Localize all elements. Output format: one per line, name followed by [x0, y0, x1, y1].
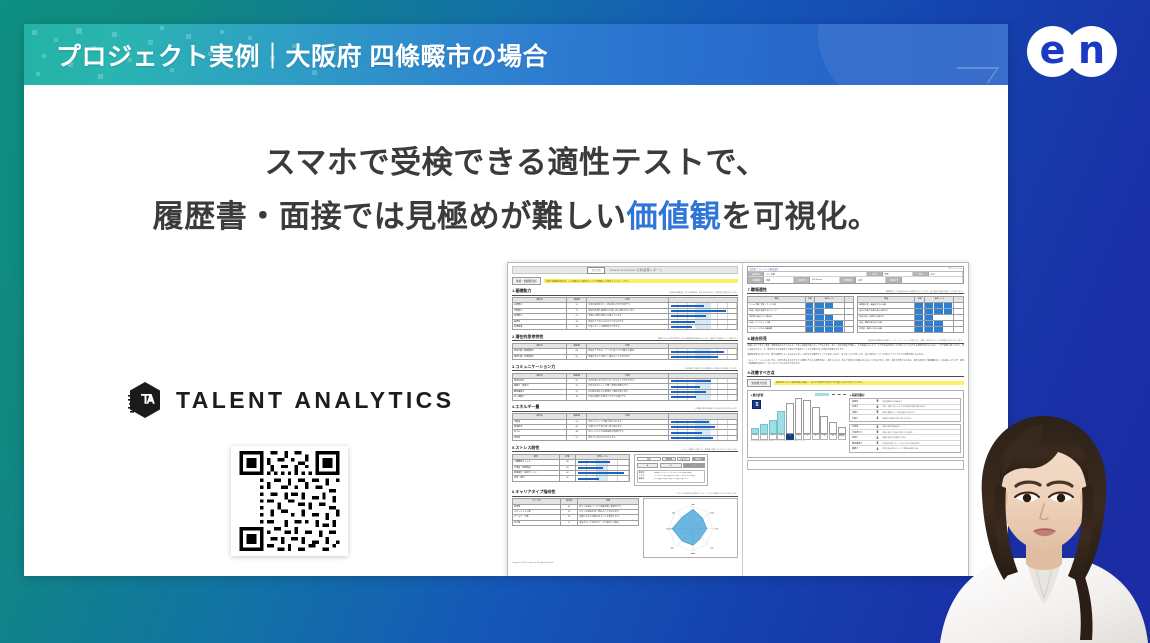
report-section-7: 7.職場適性 職場環境ごとの適性の高さを4段階で示しています。濃い青ほど適性が高… [747, 287, 964, 333]
row-desc: 裁量をもって自分のペースで進めたい傾向。 [578, 520, 638, 525]
section-4-title: 4.エネルギー量 [512, 404, 539, 410]
section-1-table: 項目名 偏差値 特徴 言語能力 52 文章の意味を正しく読み取る力が平均的です。 [512, 297, 738, 330]
row-level [924, 308, 954, 314]
judgement-grade-c: C [683, 463, 705, 468]
system-name: 判断力 [850, 411, 872, 414]
row-name: 評価・批判 [513, 476, 560, 481]
report-section-4: 4.エネルギー量 行動量や意欲の源泉となる活力の水準を示します。 項目名 偏差値… [512, 404, 738, 441]
en-logo-n-glyph: n [1078, 31, 1105, 69]
row-score: 45 [559, 476, 575, 481]
axis-tick-label: 偏差値 [838, 434, 846, 439]
form-label-date: 受検日時 [794, 277, 810, 282]
comment-paragraph: 基礎的思考力においては、数字の概念によくみられるように、自分なりの着想やアイデア… [747, 354, 964, 357]
report-section-3: 3.コミュニケーション力 対人場面での関わり方の特徴を4つの観点から評価していま… [512, 364, 738, 401]
report-section-5: 5.ストレス耐性 ストレス要因への強さと、不調時に現れやすいサインを示します。 … [512, 445, 738, 486]
radar-chart-svg: ■■■ ■■■■ ■■■ ■■■ ■■■■ ■■■ ■■■■■ ■■■ [644, 499, 738, 557]
overall-score-head: ● 総合評価 [750, 393, 846, 397]
row-gauge [576, 476, 630, 481]
form-label-type: 受検区分 [886, 277, 902, 282]
judgement-box: 判定 推奨度 フォロー 要確認 A B C [634, 454, 708, 486]
judgement-row-1: 判定 推奨度 フォロー 要確認 [637, 457, 705, 462]
section-9-head: 9.改善すべき点 [747, 370, 964, 378]
system-score: 4 [872, 447, 882, 451]
row-desc: 飽きずに続ける力があります。 [587, 435, 668, 440]
section-2-title: 2.潜在的思考特性 [512, 334, 543, 340]
aptitude-table-left: 職種 評価 適性レベル ― チームで動く営業・サービス業 [747, 296, 854, 333]
row-eval [805, 326, 815, 332]
system-name: 傾聴力 [850, 447, 872, 450]
form-label-name: 受検者名 [748, 272, 764, 276]
judgement-desc-text: 対人調整が必要な役割では支援が望ましい [654, 478, 703, 481]
system-score: 5 [872, 441, 882, 445]
axis-tick: 9 [820, 434, 828, 439]
section-9-tab-row: 知的能力分析 偏差値をもとに5段階評価に換算し、あなたの結果が分布のどの位置にあ… [747, 379, 964, 387]
table-row: 評価・批判 45 [513, 476, 630, 481]
section-5-note: ストレス要因への強さと、不調時に現れやすいサインを示します。 [682, 448, 738, 451]
row-gauge [668, 395, 738, 400]
section-4-table: 項目名 偏差値 特徴 活動量 54 安定したペースで動き続けられます。 [512, 413, 738, 441]
judgement-desc-key: 要確認 [639, 478, 653, 481]
row-job: ルーティング中心の事務職 [748, 326, 805, 332]
system-score: 5 [872, 425, 882, 429]
qr-code[interactable] [231, 446, 348, 556]
row-end [954, 326, 964, 332]
report-bottom-box [747, 460, 964, 470]
svg-text:■■■■■: ■■■■■ [666, 529, 671, 531]
talent-analytics-hexagon-icon [128, 381, 162, 419]
row-level [924, 320, 954, 326]
section-7-title: 7.職場適性 [747, 287, 766, 293]
judgement-row-2: A B C [637, 463, 705, 468]
section-7-head: 7.職場適性 職場環境ごとの適性の高さを4段階で示しています。濃い青ほど適性が高… [747, 287, 964, 295]
report-section-6: 6.キャリアタイプ指向性 どのような働き方や環境でパフォーマンスを発揮しやすいか… [512, 489, 738, 558]
row-level [815, 308, 845, 314]
section-6-title: 6.キャリアタイプ指向性 [512, 489, 555, 495]
judgement-check: 要確認 [692, 457, 705, 462]
report-tab-row: 性格・価値観分析 性格や価値観の傾向を、6つの観点と24項目のスコアで客観的に可… [512, 277, 738, 285]
table-row: 定型的・繰返しの多い仕事 [858, 326, 964, 332]
histogram-legend [815, 393, 846, 395]
row-job: 定型的・繰返しの多い仕事 [858, 326, 915, 332]
axis-tick-selected: 5 [786, 434, 794, 439]
report-tab-highlight: 性格や価値観の傾向を、6つの観点と24項目のスコアで客観的に可視化したレポートで… [544, 279, 739, 283]
form-label-duration: 所要時間 [840, 277, 856, 282]
judgement-grade-b: B [660, 463, 682, 468]
svg-text:■■■: ■■■ [710, 548, 713, 550]
row-name: 対人調整力 [513, 395, 567, 400]
row-level [924, 326, 954, 332]
section-5-table: 項目 評価 耐性レベル 人間関係ストレス 58 [512, 454, 630, 482]
row-score: 57 [567, 435, 587, 440]
form-value-duration: 35分 [856, 277, 886, 282]
section-8-title: 8.総合所見 [747, 336, 766, 342]
judgement-label: 判定 [637, 457, 661, 462]
form-value-position: 営業 [764, 277, 794, 282]
section-6-table: タイプ名 指向度 特徴 変革型 67 新しい仕組みづくりや改善提案に意欲的です。… [512, 498, 639, 526]
headline-line2-before: 履歴書・面接では見極めが難しい [153, 199, 627, 234]
aptitude-grids: 職種 評価 適性レベル ― チームで動く営業・サービス業 [747, 296, 964, 333]
score-tab-highlight: 偏差値をもとに5段階評価に換算し、あなたの結果が分布のどの位置にあるかを示してい… [774, 381, 964, 385]
section-1-head: 1.基礎能力 各項目の偏差値により5段階評価。全体平均を50として相対的な位置を… [512, 288, 738, 296]
slide-headline: スマホで受検できる適性テストで、 履歴書・面接では見極めが難しい価値観を可視化。 [24, 136, 1008, 244]
system-score: 5 [872, 410, 882, 414]
overall-score-panel: ● 総合評価 5 [750, 393, 846, 455]
section-3-head: 3.コミュニケーション力 対人場面での関わり方の特徴を4つの観点から評価していま… [512, 364, 738, 372]
section-5-head: 5.ストレス耐性 ストレス要因への強さと、不調時に現れやすいサインを示します。 [512, 445, 738, 453]
svg-text:■■■: ■■■ [715, 529, 718, 531]
section-3-table: 項目名 偏差値 特徴 意思伝達力 56 自分の考えをわかりやすく伝えることができ… [512, 373, 738, 401]
system-score: 5 [872, 399, 882, 403]
section-1-title: 1.基礎能力 [512, 288, 531, 294]
svg-text:■■■■: ■■■■ [710, 513, 714, 515]
svg-text:■■■■: ■■■■ [691, 553, 695, 555]
legend-average-line [832, 394, 846, 395]
row-desc: 無駄を省いて効率よく進めることを好みます。 [587, 354, 668, 359]
section-6-head: 6.キャリアタイプ指向性 どのような働き方や環境でパフォーマンスを発揮しやすいか… [512, 489, 738, 497]
system-name: 計算力 [850, 417, 872, 420]
row-name: 選択行動（効率重視） [513, 354, 567, 359]
talent-analytics-logo: TALENT ANALYTICS [128, 381, 454, 419]
section-5-body: 項目 評価 耐性レベル 人間関係ストレス 58 [512, 454, 738, 486]
talent-analytics-wordmark: TALENT ANALYTICS [176, 387, 454, 414]
system-score: 5 [872, 436, 882, 440]
form-label-age: 年齢 [913, 272, 929, 276]
headline-line-2: 履歴書・面接では見極めが難しい価値観を可視化。 [24, 190, 1008, 244]
judgement-desc-row: 要確認 対人調整が必要な役割では支援が望ましい [639, 478, 703, 481]
table-row: 持続性 57 飽きずに続ける力があります。 [513, 435, 738, 440]
section-5-title: 5.ストレス耐性 [512, 445, 539, 451]
system-scores-label: ● 系統別集計 [849, 393, 864, 397]
axis-tick: 4 [777, 434, 785, 439]
judgement-recommend: 推奨度 [662, 457, 675, 462]
system-name: 応用力 [850, 405, 872, 408]
judgement-descriptions: 推奨度 配属先のマネジメントスタイルとの相性を確認 フォロー 立ち上がり期の目標… [637, 470, 705, 483]
overall-score-badge: 5 [752, 400, 761, 409]
form-value-name: エン 太郎 [764, 272, 867, 276]
form-value-date: 2017/xx/xx [810, 277, 840, 282]
histogram-axis: 1 2 3 4 5 6 7 8 9 10 偏差値 [750, 434, 846, 439]
row-level [815, 302, 845, 308]
system-name: 基礎系 [850, 400, 872, 403]
report-section-8: 8.総合所見 各項目の評価結果を踏まえ、コミュニケーションの取り方や、配属・育成… [747, 336, 964, 366]
talent-analytics-report-thumbnail[interactable]: サンプル Talent Analytics 分析結果レポート 性格・価値観分析 … [507, 262, 969, 576]
row-eval [915, 308, 925, 314]
svg-text:■■■: ■■■ [670, 548, 673, 550]
row-score: 45 [567, 325, 587, 330]
section-8-head: 8.総合所見 各項目の評価結果を踏まえ、コミュニケーションの取り方や、配属・育成… [747, 336, 964, 344]
system-scores-head: ● 系統別集計 [849, 393, 961, 397]
table-row: 処理速度 45 作業スピードは標準的な水準です。 [513, 325, 738, 330]
report-tab-personality[interactable]: 性格・価値観分析 [512, 277, 541, 285]
en-logo-e-glyph: e [1040, 31, 1066, 69]
axis-tick: 6 [795, 434, 803, 439]
row-level [924, 314, 954, 320]
system-name: 応用系 [850, 425, 872, 428]
score-tab-label[interactable]: 知的能力分析 [747, 379, 771, 387]
form-label-gender: 性別 [867, 272, 883, 276]
row-desc: 利害の調整や折衝はやや苦手な傾向です。 [587, 395, 668, 400]
section-2-note: 物事をとらえる際の思考のクセや価値判断の傾向を示します。面接では見極めにくい領域… [658, 337, 739, 340]
row-eval [915, 302, 925, 308]
row-level [924, 302, 954, 308]
table-row: 選択行動（効率重視） 64 無駄を省いて効率よく進めることを好みます。 [513, 354, 738, 359]
section-4-head: 4.エネルギー量 行動量や意欲の源泉となる活力の水準を示します。 [512, 404, 738, 412]
axis-tick: 1 [751, 434, 759, 439]
row-eval [915, 314, 925, 320]
radar-series-polygon [672, 509, 707, 545]
presenter-video [934, 400, 1150, 643]
section-2-table: 項目名 偏差値 特徴 思考行動（論理重視） 68 筋道立てて考え、データに基づい… [512, 343, 738, 360]
comment-paragraph: コミュニケーションにおいては、自分の考えをわかりやすく整理して伝える姿勢が強く、… [747, 360, 964, 367]
webinar-slide-screen: e n [0, 0, 1150, 643]
row-eval [915, 320, 925, 326]
en-japan-logo: e n [1027, 25, 1119, 77]
form-value-type [902, 277, 963, 282]
report-title: Talent Analytics 分析結果レポート [610, 268, 663, 272]
system-score: 4 [872, 416, 882, 420]
section-4-note: 行動量や意欲の源泉となる活力の水準を示します。 [695, 407, 738, 410]
row-gauge [668, 354, 738, 359]
row-level [815, 320, 845, 326]
system-name: 関係構築力 [850, 442, 872, 445]
table-row: 自立型 71 裁量をもって自分のペースで進めたい傾向。 [513, 520, 639, 525]
presentation-slide: プロジェクト実例｜大阪府 四條畷市の場合 スマホで受検できる適性テストで、 履歴… [24, 24, 1008, 576]
form-label-position: 応募職種 [748, 277, 764, 282]
judgement-follow: フォロー [677, 457, 690, 462]
axis-tick: 2 [760, 434, 768, 439]
presenter-portrait [934, 400, 1150, 643]
report-section-9: 9.改善すべき点 知的能力分析 偏差値をもとに5段階評価に換算し、あなたの結果が… [747, 370, 964, 470]
axis-tick: 10 [829, 434, 837, 439]
score-histogram: 5 [750, 398, 846, 434]
form-meta: 作成日：2017/xx/xx [948, 268, 962, 270]
row-gauge [668, 435, 738, 440]
report-copyright: Copyright © 2017 en-japan inc. All Right… [512, 562, 738, 564]
system-score: 6 [872, 405, 882, 409]
presenter-eye-left [1023, 494, 1031, 502]
row-name: 自立型 [513, 520, 561, 525]
system-score: 5 [872, 430, 882, 434]
presenter-eye-right [1057, 494, 1065, 502]
svg-text:■■■: ■■■ [672, 513, 675, 515]
row-gauge [668, 325, 738, 330]
row-eval [805, 302, 815, 308]
legend-fill-swatch [815, 393, 829, 395]
slide-header-bar: プロジェクト実例｜大阪府 四條畷市の場合 [24, 24, 1008, 85]
headline-line-1: スマホで受検できる適性テストで、 [24, 136, 1008, 190]
overall-score-label: ● 総合評価 [750, 393, 763, 397]
en-logo-letter-n: n [1066, 26, 1117, 77]
histogram-note: ※分布は受検者全体の得点分布を示しています。中央値を5として算出しています。 [750, 441, 846, 444]
slide-title: プロジェクト実例｜大阪府 四條畷市の場合 [56, 24, 548, 85]
table-row: ルーティング中心の事務職 [748, 326, 854, 332]
table-row: 対人調整力 43 利害の調整や折衝はやや苦手な傾向です。 [513, 395, 738, 400]
row-eval [805, 320, 815, 326]
section-6-note: どのような働き方や環境でパフォーマンスを発揮しやすいかを示します。 [676, 492, 738, 495]
row-eval [805, 308, 815, 314]
form-value-gender: 男性 [883, 272, 913, 276]
row-eval [805, 314, 815, 320]
report-left-column: サンプル Talent Analytics 分析結果レポート 性格・価値観分析 … [508, 263, 743, 576]
score-block: ● 総合評価 5 [747, 390, 964, 458]
axis-tick: 3 [769, 434, 777, 439]
form-row: 応募職種 営業 受検日時 2017/xx/xx 所要時間 35分 受検区分 [748, 277, 963, 282]
row-name: 処理速度 [513, 325, 567, 330]
system-name: 統率力 [850, 436, 872, 439]
row-level [815, 314, 845, 320]
system-name: 計画遂行力 [850, 431, 872, 434]
row-score: 43 [567, 395, 587, 400]
row-desc: 作業スピードは標準的な水準です。 [587, 325, 668, 330]
row-end [844, 326, 854, 332]
report-masthead: サンプル Talent Analytics 分析結果レポート [512, 266, 738, 274]
row-level [815, 326, 845, 332]
axis-tick: 7 [803, 434, 811, 439]
report-candidate-form: 会社名 エンジャパン株式会社 作成日：2017/xx/xx 受検者名 エン 太郎… [747, 266, 964, 284]
report-sample-tag: サンプル [587, 267, 605, 274]
judgement-grade-a: A [637, 463, 659, 468]
aptitude-table-right: 職種 評価 適性レベル ― 短期集中型・裁量の大きい仕事 [857, 296, 964, 333]
axis-tick: 8 [812, 434, 820, 439]
report-section-2: 2.潜在的思考特性 物事をとらえる際の思考のクセや価値判断の傾向を示します。面接… [512, 334, 738, 360]
row-eval [915, 326, 925, 332]
section-9-title: 9.改善すべき点 [747, 370, 774, 376]
section-3-note: 対人場面での関わり方の特徴を4つの観点から評価しています。 [685, 367, 739, 370]
row-score: 64 [567, 354, 587, 359]
section-7-note: 職場環境ごとの適性の高さを4段階で示しています。濃い青ほど適性が高いことを表しま… [886, 290, 964, 293]
form-value-age: 25才 [929, 272, 963, 276]
section-8-note: 各項目の評価結果を踏まえ、コミュニケーションの取り方や、配属・育成にあたっての留… [868, 339, 964, 342]
form-company: 会社名 エンジャパン株式会社 [749, 267, 778, 271]
row-score: 71 [560, 520, 578, 525]
section-1-note: 各項目の偏差値により5段階評価。全体平均を50として相対的な位置を示します。 [669, 291, 738, 294]
headline-line2-after: を可視化。 [721, 199, 879, 234]
row-name: 持続性 [513, 435, 567, 440]
comment-paragraph: 物事に対してまず「筋道・道理を組み立てに沿える」と考える傾向が強いタイプでありま… [747, 345, 964, 352]
section-6-body: タイプ名 指向度 特徴 変革型 67 新しい仕組みづくりや改善提案に意欲的です。… [512, 498, 738, 558]
headline-accent-word: 価値観 [627, 199, 722, 234]
qr-code-image [236, 451, 343, 551]
radar-chart: ■■■ ■■■■ ■■■ ■■■ ■■■■ ■■■ ■■■■■ ■■■ [643, 498, 739, 558]
section-2-head: 2.潜在的思考特性 物事をとらえる際の思考のクセや価値判断の傾向を示します。面接… [512, 334, 738, 342]
svg-text:■■■: ■■■ [691, 504, 694, 506]
section-3-title: 3.コミュニケーション力 [512, 364, 555, 370]
report-section-1: 1.基礎能力 各項目の偏差値により5段階評価。全体平均を50として相対的な位置を… [512, 288, 738, 330]
